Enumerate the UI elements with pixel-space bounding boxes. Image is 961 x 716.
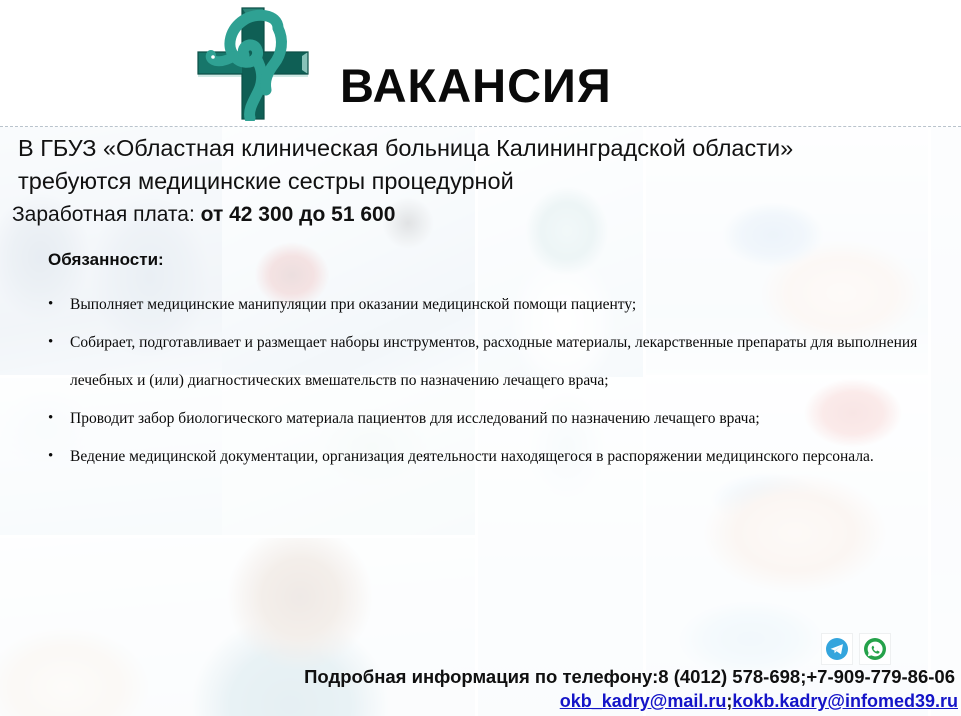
social-icons — [822, 634, 890, 664]
list-item: • Проводит забор биологического материал… — [40, 400, 920, 438]
salary-value: от 42 300 до 51 600 — [201, 203, 396, 226]
telegram-icon[interactable] — [822, 634, 852, 664]
vacancy-poster: ВАКАНСИЯ В ГБУЗ «Областная клиническая б… — [0, 0, 961, 716]
duties-list: • Выполняет медицинские манипуляции при … — [40, 286, 920, 476]
bullet-icon: • — [48, 324, 53, 361]
salary-line: Заработная плата: от 42 300 до 51 600 — [12, 203, 395, 227]
list-item: • Собирает, подготавливает и размещает н… — [40, 324, 920, 400]
duties-heading-text: Обязанности — [48, 250, 158, 269]
footer-email-line: okb_kadry@mail.ru;kokb.kadry@infomed39.r… — [0, 691, 958, 712]
email-link-1[interactable]: okb_kadry@mail.ru — [560, 691, 727, 711]
salary-label: Заработная плата: — [12, 203, 195, 226]
duties-heading-colon: : — [158, 250, 164, 269]
list-item-label: Собирает, подготавливает и размещает наб… — [70, 334, 917, 389]
header-band: ВАКАНСИЯ — [0, 0, 961, 127]
list-item-label: Ведение медицинской документации, органи… — [70, 448, 874, 465]
phone-number-2[interactable]: +7-909-779-86-06 — [806, 666, 955, 687]
phone-number-1[interactable]: 8 (4012) 578-698; — [658, 666, 806, 687]
footer-phone-line: Подробная информация по телефону:8 (4012… — [0, 666, 955, 688]
bullet-icon: • — [48, 438, 53, 475]
list-item-label: Выполняет медицинские манипуляции при ок… — [70, 296, 636, 313]
phone-label: Подробная информация по телефону: — [304, 666, 658, 687]
bullet-icon: • — [48, 286, 53, 323]
whatsapp-icon[interactable] — [860, 634, 890, 664]
list-item: • Выполняет медицинские манипуляции при … — [40, 286, 920, 324]
duties-heading: Обязанности: — [48, 250, 164, 270]
header-divider — [0, 126, 961, 127]
email-link-2[interactable]: kokb.kadry@infomed39.ru — [732, 691, 958, 711]
list-item-label: Проводит забор биологического материала … — [70, 410, 760, 427]
list-item: • Ведение медицинской документации, орга… — [40, 438, 920, 476]
medical-cross-snake-logo — [186, 6, 314, 121]
bullet-icon: • — [48, 400, 53, 437]
page-title: ВАКАНСИЯ — [340, 62, 612, 109]
vacancy-lead-text: В ГБУЗ «Областная клиническая больница К… — [18, 132, 808, 199]
